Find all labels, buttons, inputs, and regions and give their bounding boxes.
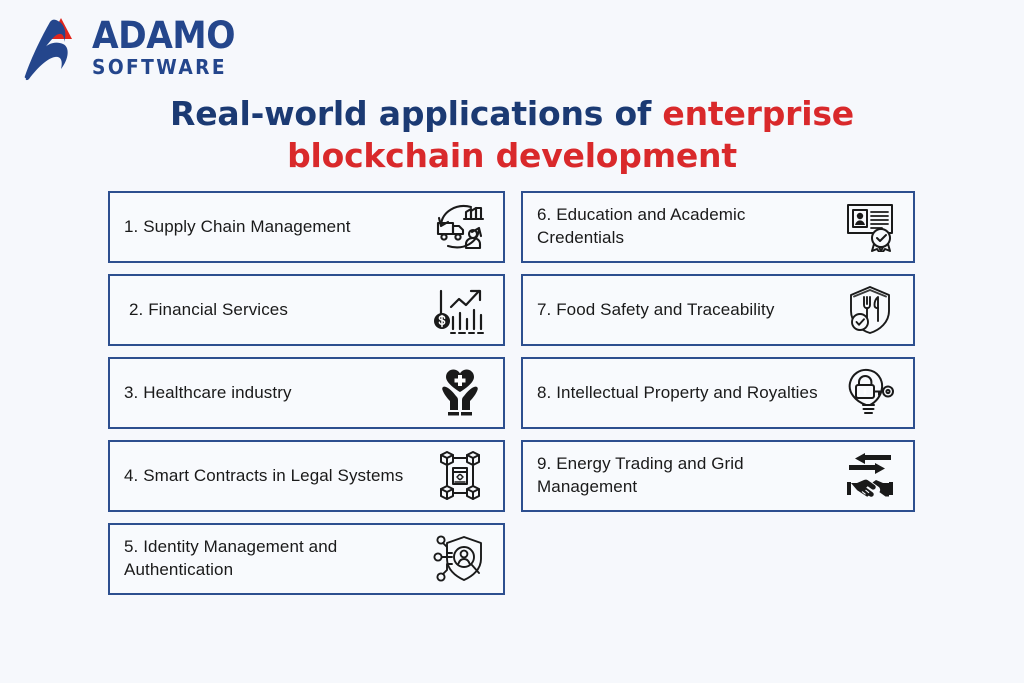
card-label: 3. Healthcare industry [124, 382, 300, 405]
hands-holding-heart-icon [431, 364, 489, 422]
title-line1-navy: Real-world applications of [170, 94, 662, 133]
card-financial-services[interactable]: 2. Financial Services [108, 274, 505, 346]
brand-wordmark: ADAMO SOFTWARE [92, 17, 246, 77]
card-label: 7. Food Safety and Traceability [537, 299, 782, 322]
card-supply-chain-management[interactable]: 1. Supply Chain Management [108, 191, 505, 263]
card-intellectual-property-royalties[interactable]: 8. Intellectual Property and Royalties [521, 357, 915, 429]
card-label: 9. Energy Trading and Grid Management [537, 453, 841, 498]
left-card-column: 1. Supply Chain Management [108, 191, 505, 606]
right-card-column: 6. Education and Academic Credentials 7.… [521, 191, 915, 523]
title-line1-red: enterprise [662, 94, 854, 133]
handshake-exchange-arrows-icon [841, 447, 899, 505]
card-smart-contracts-legal[interactable]: 4. Smart Contracts in Legal Systems [108, 440, 505, 512]
shield-fork-knife-check-icon [841, 281, 899, 339]
card-healthcare-industry[interactable]: 3. Healthcare industry [108, 357, 505, 429]
brand-logo: ADAMO SOFTWARE [20, 12, 246, 82]
smart-contract-blocks-code-icon [431, 447, 489, 505]
brand-name-software: SOFTWARE [92, 57, 235, 77]
brand-name-adamo: ADAMO [92, 17, 235, 54]
supply-chain-truck-factory-icon [431, 198, 489, 256]
card-food-safety-traceability[interactable]: 7. Food Safety and Traceability [521, 274, 915, 346]
card-identity-management-authentication[interactable]: 5. Identity Management and Authenticatio… [108, 523, 505, 595]
card-label: 5. Identity Management and Authenticatio… [124, 536, 431, 581]
card-label: 1. Supply Chain Management [124, 216, 359, 239]
dollar-growth-chart-icon [431, 281, 489, 339]
identity-shield-user-network-icon [431, 530, 489, 588]
card-label: 4. Smart Contracts in Legal Systems [124, 465, 411, 488]
adamo-swoosh-logo-icon [20, 12, 82, 82]
certificate-badge-icon [841, 198, 899, 256]
card-label: 8. Intellectual Property and Royalties [537, 382, 826, 405]
page-title: Real-world applications of enterprise bl… [0, 93, 1024, 177]
card-education-academic-credentials[interactable]: 6. Education and Academic Credentials [521, 191, 915, 263]
infographic-page: ADAMO SOFTWARE Real-world applications o… [0, 0, 1024, 683]
card-label: 6. Education and Academic Credentials [537, 204, 841, 249]
card-label: 2. Financial Services [129, 299, 296, 322]
lightbulb-lock-key-icon [841, 364, 899, 422]
title-line2-red: blockchain development [287, 136, 737, 175]
card-energy-trading-grid-management[interactable]: 9. Energy Trading and Grid Management [521, 440, 915, 512]
